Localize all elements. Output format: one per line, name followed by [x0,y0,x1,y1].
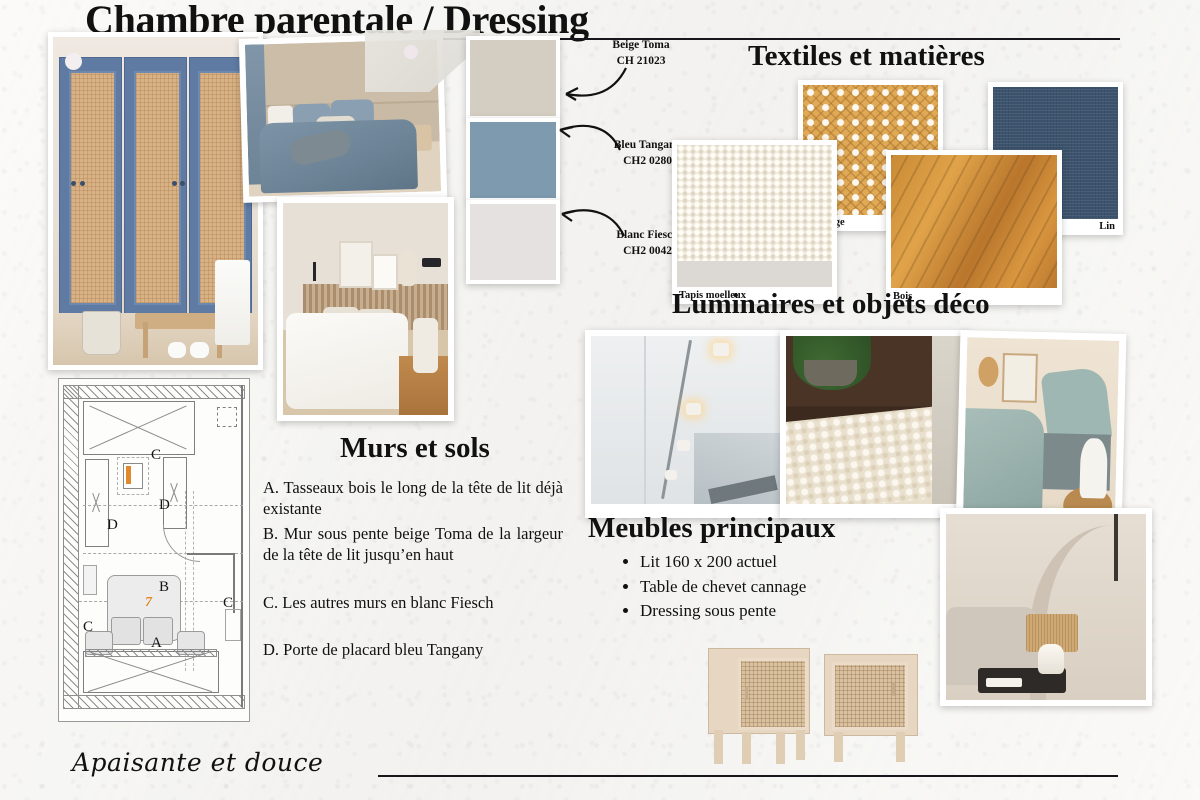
sage-bed-illustration [963,337,1120,529]
bobble-rug-illustration [786,336,964,504]
palette-swatch-0 [466,36,560,120]
bedroom-slat-illustration [283,203,448,415]
section-title-meubles: Meubles principaux [588,512,835,545]
photo-bedroom-slat [277,197,454,421]
murs-item-3: D. Porte de placard bleu Tangany [263,640,573,661]
palette-swatch-2 [466,200,560,284]
plan-marker-d-1: D [159,497,170,514]
murs-item-1: B. Mur sous pente beige Toma de la large… [263,524,563,566]
plan-marker-c-left: C [83,619,93,636]
photo-lamp-scene [940,508,1152,706]
torn-paper-accent [365,30,480,92]
plan-marker-c-right: C [223,595,233,612]
photo-track-lighting [585,330,787,518]
track-light-illustration [591,336,781,504]
material-bois: Bois [886,150,1062,305]
plan-marker-c-top: C [151,447,161,464]
section-title-luminaires: Luminaires et objets déco [672,288,990,321]
palette-name-0: Beige Toma [566,38,716,54]
arrow-to-swatch-1 [548,118,626,156]
meubles-list: Lit 160 x 200 actuel Table de chevet can… [600,550,970,624]
meubles-item-0: Lit 160 x 200 actuel [640,550,970,575]
plan-marker-a: A [151,635,162,652]
material-tapis: Tapis moelleux [672,140,837,304]
wardrobe-illustration [53,37,258,365]
arrow-to-swatch-2 [550,202,630,242]
section-title-murs: Murs et sols [340,432,490,465]
footer-caption: Apaisante et douce [72,748,323,777]
material-lin-label: Lin [1099,221,1115,232]
photo-bobble-rug [780,330,970,518]
palette-swatch-1 [466,118,560,202]
photo-sage-bed [956,330,1127,536]
murs-item-0: A. Tasseaux bois le long de la tête de l… [263,478,563,520]
meubles-item-1: Table de chevet cannage [640,575,970,600]
section-title-textiles: Textiles et matières [748,40,985,73]
plan-marker-d-2: D [107,517,118,534]
arrow-to-swatch-0 [552,62,632,104]
meubles-item-2: Dressing sous pente [640,599,970,624]
lamp-scene-illustration [946,514,1146,700]
photo-wardrobe [48,32,263,370]
plan-marker-b: B [159,579,169,596]
floor-plan: C D D B C C A 7 [58,378,250,722]
nightstands-illustration [700,638,920,770]
murs-item-2: C. Les autres murs en blanc Fiesch [263,593,563,614]
plan-number: 7 [145,595,152,611]
decorative-dot [404,45,418,59]
footer-rule [378,775,1118,777]
